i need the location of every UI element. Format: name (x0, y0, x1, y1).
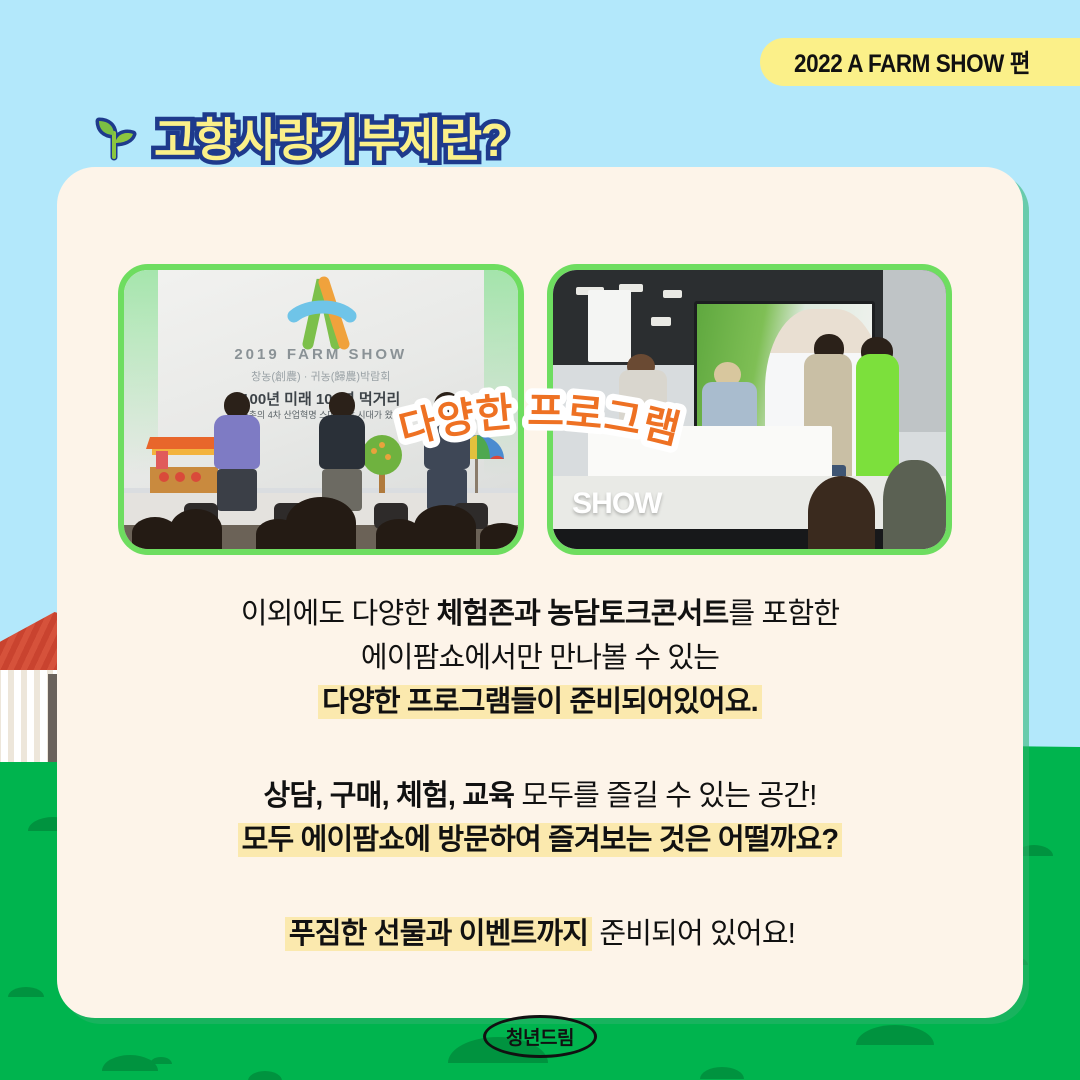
bush-shape (8, 987, 44, 997)
afarmshow-logo (246, 274, 396, 350)
p3-l1-post: 준비되어 있어요! (592, 918, 795, 950)
p2-l2-highlight: 모두 에이팜쇼에 방문하여 즐겨보는 것은 어떨까요? (238, 823, 843, 857)
page-title-text: 고향사랑기부제란? (154, 104, 507, 170)
host-person (424, 392, 470, 511)
paragraph1-line1: 이외에도 다양한 체험존과 농담토크콘서트를 포함한 (57, 592, 1023, 636)
sprout-icon (88, 111, 140, 163)
brand-logo: 청년드림 (483, 1015, 597, 1058)
audience-head (286, 497, 356, 549)
foreground-head (808, 476, 875, 549)
content-card: 2019 FARM SHOW 창농(創農) · 귀농(歸農)박람회 100년 미… (57, 167, 1023, 1018)
ceiling-light (651, 317, 671, 325)
ceiling-light (663, 290, 683, 298)
p1-l3-highlight: 다양한 프로그램들이 준비되어있어요. (318, 685, 762, 719)
audience-head (414, 505, 476, 549)
speaker-person (214, 392, 260, 511)
bush-shape (102, 1055, 158, 1071)
audience-head (170, 509, 222, 549)
audience-head (480, 523, 524, 549)
paragraph2-line2: 모두 에이팜쇼에 방문하여 즐겨보는 것은 어떨까요? (57, 818, 1023, 862)
floor-sign-text: SHOW (572, 487, 661, 521)
brand-logo-label: 청년드림 (506, 1028, 574, 1049)
poster-canvas: 2022 A FARM SHOW 편 고향사랑기부제란? (0, 0, 1080, 1080)
p1-l1-post: 를 포함한 (728, 598, 839, 630)
p1-l1-bold: 체험존과 농담토크콘서트 (436, 598, 728, 630)
paragraph2-line1: 상담, 구매, 체험, 교육 모두를 즐길 수 있는 공간! (57, 774, 1023, 818)
photo-talk-concert: 2019 FARM SHOW 창농(創農) · 귀농(歸農)박람회 100년 미… (118, 264, 524, 555)
speaker-person (319, 392, 365, 511)
photo-row: 2019 FARM SHOW 창농(創農) · 귀농(歸農)박람회 100년 미… (118, 264, 952, 555)
paragraph-gap (57, 862, 1023, 912)
edition-badge-label: 2022 A FARM SHOW 편 (794, 44, 1030, 80)
p1-l1-pre: 이외에도 다양한 (241, 598, 437, 630)
foreground-person (883, 460, 946, 549)
staff-body (856, 354, 899, 488)
bush-shape (856, 1025, 934, 1045)
screen-subtitle: 창농(創農) · 귀농(歸農)박람회 (251, 368, 390, 384)
edition-badge: 2022 A FARM SHOW 편 (760, 38, 1080, 86)
photo-exhibition-booth: SHOW (547, 264, 953, 555)
paragraph1-line3: 다양한 프로그램들이 준비되어있어요. (57, 680, 1023, 724)
p2-l1-post: 모두를 즐길 수 있는 공간! (514, 780, 816, 812)
bush-shape (700, 1067, 744, 1079)
bush-shape (248, 1071, 282, 1080)
paragraph-gap (57, 724, 1023, 774)
paragraph3-line1: 푸짐한 선물과 이벤트까지 준비되어 있어요! (57, 912, 1023, 956)
p3-l1-highlight: 푸짐한 선물과 이벤트까지 (285, 917, 592, 951)
screen-title: 2019 FARM SHOW (234, 346, 407, 363)
booth-banner (588, 290, 631, 363)
body-copy: 이외에도 다양한 체험존과 농담토크콘서트를 포함한 에이팜쇼에서만 만나볼 수… (57, 592, 1023, 956)
page-title: 고향사랑기부제란? (88, 104, 507, 170)
paragraph1-line2: 에이팜쇼에서만 만나볼 수 있는 (57, 636, 1023, 680)
p2-l1-bold: 상담, 구매, 체험, 교육 (264, 780, 515, 812)
